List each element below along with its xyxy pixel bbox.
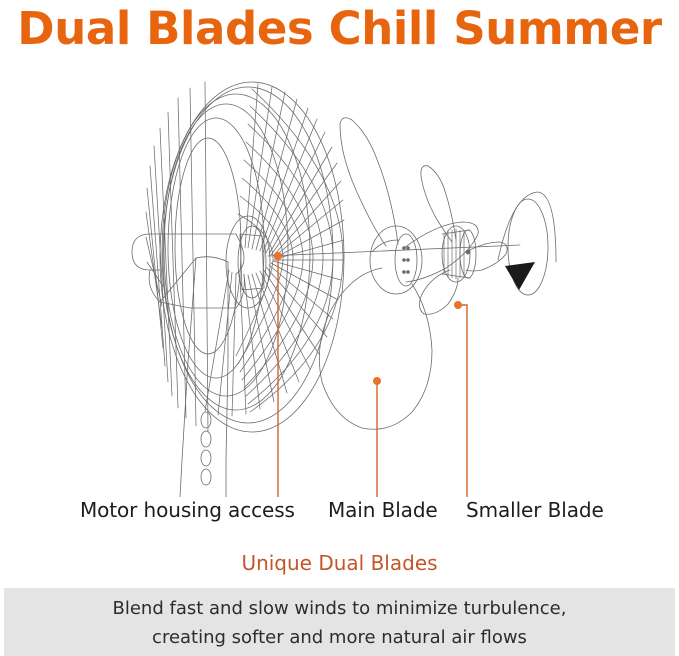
wire-grille [146,82,344,432]
callout-dot-main-blade [373,377,381,385]
main-blade-assembly [319,118,478,430]
callout-dot-motor-housing [274,252,282,260]
description-line-1: Blend fast and slow winds to minimize tu… [4,594,675,623]
rotation-direction-arrow [505,262,535,290]
callout-dot-smaller-blade [454,301,462,309]
smaller-blade-assembly [419,166,507,315]
feature-subheading: Unique Dual Blades [0,551,679,575]
stand-column [180,257,228,497]
leader-line-smaller-blade [455,305,467,497]
grille-hub [226,216,270,308]
callout-label-motor-housing-access: Motor housing access [80,498,295,522]
exploded-fan-diagram [0,62,679,497]
callout-label-main-blade: Main Blade [328,498,438,522]
callout-label-row: Motor housing access Main Blade Smaller … [0,498,679,532]
description-line-2: creating softer and more natural air flo… [4,623,675,652]
product-feature-card: Dual Blades Chill Summer [0,0,679,656]
callout-label-smaller-blade: Smaller Blade [466,498,604,522]
description-panel: Blend fast and slow winds to minimize tu… [4,588,675,656]
page-title: Dual Blades Chill Summer [0,0,679,62]
grille-wires [205,84,344,416]
